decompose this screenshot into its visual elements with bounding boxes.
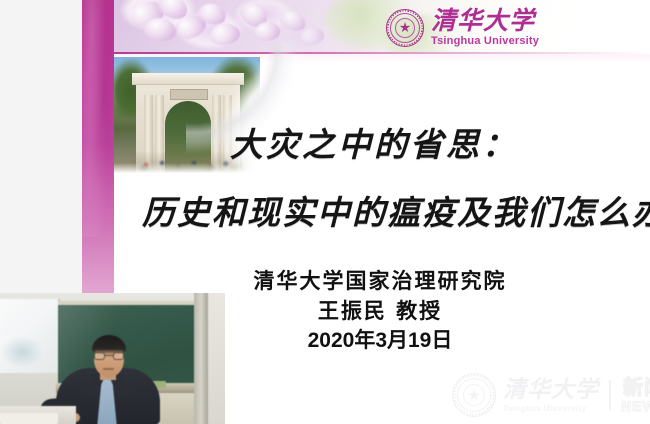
speaker-video-overlay[interactable] (0, 293, 225, 424)
slide-title-line-2: 历史和现实中的瘟疫及我们怎么办 (142, 186, 642, 234)
logo-name-en: Tsinghua University (431, 36, 539, 47)
watermark-name-en: Tsinghua University (503, 405, 599, 413)
tsinghua-logo: 清华大学 Tsinghua University (386, 5, 560, 50)
watermark-university-text: 清华大学 Tsinghua University (503, 378, 599, 413)
news-watermark: 清华大学 Tsinghua University 新闻 NEWS (452, 371, 642, 419)
watermark-news-text: 新闻 NEWS (621, 377, 650, 413)
video-projection-glow (2, 337, 42, 367)
watermark-seal-icon (452, 373, 496, 417)
credit-speaker: 王振民 教授 (230, 296, 530, 326)
watermark-name-cn: 清华大学 (503, 378, 599, 401)
slide-title-line-1: 大灾之中的省思： (230, 118, 630, 166)
video-right-post (194, 293, 208, 424)
video-papers (0, 413, 58, 424)
credit-institute: 清华大学国家治理研究院 (230, 266, 530, 296)
watermark-divider (609, 380, 611, 410)
header-flower-band (114, 0, 650, 53)
screen: 清华大学 Tsinghua University 大灾 (0, 0, 650, 424)
logo-name-cn: 清华大学 (431, 8, 539, 33)
band-texture (82, 0, 114, 237)
credit-date: 2020年3月19日 (230, 326, 530, 356)
video-right-wall (208, 293, 225, 424)
watermark-channel-en: NEWS (621, 399, 650, 413)
slide-credits: 清华大学国家治理研究院 王振民 教授 2020年3月19日 (230, 266, 530, 355)
glasses-icon (94, 352, 124, 361)
petal-6 (208, 22, 241, 48)
watermark-channel-cn: 新闻 (623, 377, 650, 397)
tsinghua-logo-text: 清华大学 Tsinghua University (431, 8, 539, 47)
tsinghua-seal-icon (386, 9, 424, 47)
